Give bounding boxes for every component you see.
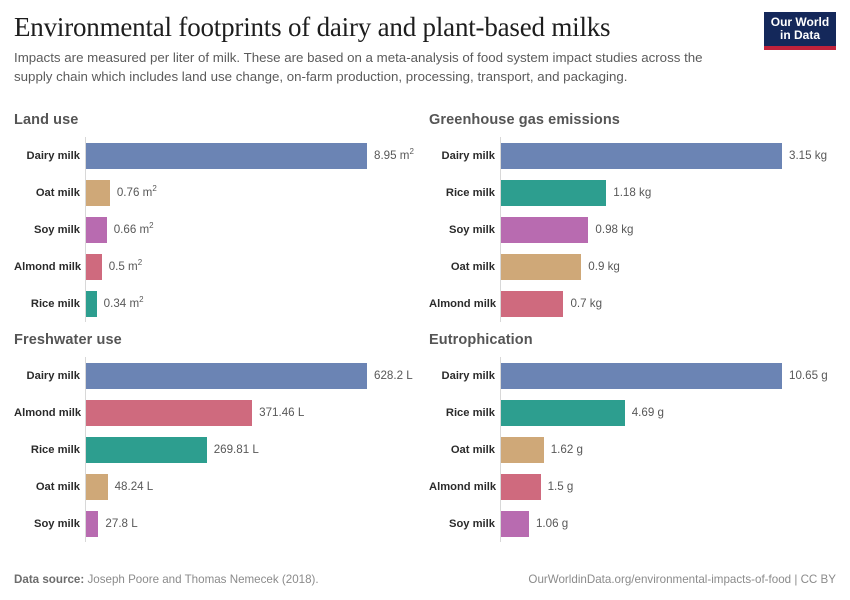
bar-category-label: Rice milk xyxy=(14,444,86,456)
chart-panel: Land useDairy milk8.95 m2Oat milk0.76 m2… xyxy=(14,112,421,322)
data-source-label: Data source: xyxy=(14,573,84,586)
bar-category-label: Dairy milk xyxy=(14,150,86,162)
bar-rows: Dairy milk10.65 gRice milk4.69 gOat milk… xyxy=(500,357,836,542)
bar[interactable] xyxy=(86,143,367,169)
bar-value-label: 8.95 m2 xyxy=(367,149,414,162)
panel-title: Greenhouse gas emissions xyxy=(429,112,836,128)
chart-panel: Greenhouse gas emissionsDairy milk3.15 k… xyxy=(429,112,836,322)
bar-value-label: 1.18 kg xyxy=(606,186,651,199)
bar-category-label: Almond milk xyxy=(429,298,501,310)
bar[interactable] xyxy=(501,291,563,317)
bar-value-label: 0.98 kg xyxy=(588,223,633,236)
bar-row[interactable]: Rice milk4.69 g xyxy=(501,394,836,431)
bar[interactable] xyxy=(86,180,110,206)
footer: Data source: Joseph Poore and Thomas Nem… xyxy=(14,573,836,586)
bar-category-label: Soy milk xyxy=(14,518,86,530)
data-source: Data source: Joseph Poore and Thomas Nem… xyxy=(14,573,319,586)
logo-line-1: Our World xyxy=(764,16,836,29)
data-source-text: Joseph Poore and Thomas Nemecek (2018). xyxy=(87,573,318,586)
bar-value-label: 0.66 m2 xyxy=(107,223,154,236)
bar-row[interactable]: Dairy milk3.15 kg xyxy=(501,137,836,174)
bar-value-label: 48.24 L xyxy=(108,480,154,493)
panel-title: Eutrophication xyxy=(429,332,836,348)
logo-line-2: in Data xyxy=(764,29,836,42)
bar-category-label: Oat milk xyxy=(14,481,86,493)
bar-value-label: 269.81 L xyxy=(207,443,259,456)
bar-value-label: 0.5 m2 xyxy=(102,260,142,273)
bar[interactable] xyxy=(86,254,102,280)
bar[interactable] xyxy=(501,180,606,206)
bar-row[interactable]: Soy milk27.8 L xyxy=(86,505,421,542)
bar[interactable] xyxy=(501,437,544,463)
bar-category-label: Almond milk xyxy=(429,481,501,493)
page-title: Environmental footprints of dairy and pl… xyxy=(14,12,836,43)
bar-category-label: Rice milk xyxy=(14,298,86,310)
bar-value-label: 0.34 m2 xyxy=(97,297,144,310)
panel-title: Land use xyxy=(14,112,421,128)
bar[interactable] xyxy=(86,291,97,317)
bar[interactable] xyxy=(86,363,367,389)
bar[interactable] xyxy=(86,511,98,537)
bar-row[interactable]: Oat milk1.62 g xyxy=(501,431,836,468)
bar-rows: Dairy milk3.15 kgRice milk1.18 kgSoy mil… xyxy=(500,137,836,322)
bar-category-label: Oat milk xyxy=(429,261,501,273)
bar-category-label: Almond milk xyxy=(14,261,86,273)
bar-row[interactable]: Soy milk0.66 m2 xyxy=(86,211,421,248)
chart-page: Environmental footprints of dairy and pl… xyxy=(0,0,850,600)
bar[interactable] xyxy=(501,400,625,426)
bar-category-label: Dairy milk xyxy=(429,150,501,162)
chart-panels: Land useDairy milk8.95 m2Oat milk0.76 m2… xyxy=(14,112,836,542)
bar-row[interactable]: Rice milk269.81 L xyxy=(86,431,421,468)
bar-row[interactable]: Almond milk0.5 m2 xyxy=(86,248,421,285)
bar-category-label: Oat milk xyxy=(14,187,86,199)
bar-value-label: 0.9 kg xyxy=(581,260,620,273)
bar-value-label: 1.5 g xyxy=(541,480,574,493)
bar-row[interactable]: Rice milk0.34 m2 xyxy=(86,285,421,322)
bar-value-label: 628.2 L xyxy=(367,369,413,382)
bar[interactable] xyxy=(501,511,529,537)
chart-panel: EutrophicationDairy milk10.65 gRice milk… xyxy=(429,332,836,542)
bar-row[interactable]: Soy milk1.06 g xyxy=(501,505,836,542)
bar-row[interactable]: Almond milk0.7 kg xyxy=(501,285,836,322)
header: Environmental footprints of dairy and pl… xyxy=(14,0,836,87)
bar-row[interactable]: Soy milk0.98 kg xyxy=(501,211,836,248)
bar[interactable] xyxy=(501,143,782,169)
bar[interactable] xyxy=(501,254,581,280)
our-world-in-data-logo[interactable]: Our World in Data xyxy=(764,12,836,50)
bar-row[interactable]: Dairy milk10.65 g xyxy=(501,357,836,394)
bar[interactable] xyxy=(86,474,108,500)
bar-row[interactable]: Oat milk0.9 kg xyxy=(501,248,836,285)
bar-value-label: 3.15 kg xyxy=(782,149,827,162)
bar-value-label: 371.46 L xyxy=(252,406,304,419)
bar-category-label: Rice milk xyxy=(429,187,501,199)
bar-row[interactable]: Dairy milk628.2 L xyxy=(86,357,421,394)
bar-row[interactable]: Oat milk48.24 L xyxy=(86,468,421,505)
bar[interactable] xyxy=(86,217,107,243)
bar-category-label: Oat milk xyxy=(429,444,501,456)
bar-value-label: 1.06 g xyxy=(529,517,568,530)
bar-row[interactable]: Rice milk1.18 kg xyxy=(501,174,836,211)
chart-panel: Freshwater useDairy milk628.2 LAlmond mi… xyxy=(14,332,421,542)
bar-category-label: Dairy milk xyxy=(429,370,501,382)
bar-value-label: 10.65 g xyxy=(782,369,828,382)
bar-row[interactable]: Oat milk0.76 m2 xyxy=(86,174,421,211)
panel-title: Freshwater use xyxy=(14,332,421,348)
bar[interactable] xyxy=(86,400,252,426)
bar-category-label: Soy milk xyxy=(429,518,501,530)
bar[interactable] xyxy=(86,437,207,463)
bar-row[interactable]: Dairy milk8.95 m2 xyxy=(86,137,421,174)
bar[interactable] xyxy=(501,363,782,389)
bar-rows: Dairy milk8.95 m2Oat milk0.76 m2Soy milk… xyxy=(85,137,421,322)
bar-value-label: 1.62 g xyxy=(544,443,583,456)
bar-value-label: 27.8 L xyxy=(98,517,137,530)
bar-value-label: 0.7 kg xyxy=(563,297,602,310)
bar-value-label: 0.76 m2 xyxy=(110,186,157,199)
bar-value-label: 4.69 g xyxy=(625,406,664,419)
bar-row[interactable]: Almond milk371.46 L xyxy=(86,394,421,431)
bar-category-label: Soy milk xyxy=(429,224,501,236)
page-subtitle: Impacts are measured per liter of milk. … xyxy=(14,49,714,87)
bar-rows: Dairy milk628.2 LAlmond milk371.46 LRice… xyxy=(85,357,421,542)
bar-category-label: Soy milk xyxy=(14,224,86,236)
attribution-link[interactable]: OurWorldinData.org/environmental-impacts… xyxy=(528,573,836,586)
bar[interactable] xyxy=(501,474,541,500)
bar-category-label: Rice milk xyxy=(429,407,501,419)
bar-category-label: Almond milk xyxy=(14,407,86,419)
bar-row[interactable]: Almond milk1.5 g xyxy=(501,468,836,505)
bar[interactable] xyxy=(501,217,588,243)
bar-category-label: Dairy milk xyxy=(14,370,86,382)
